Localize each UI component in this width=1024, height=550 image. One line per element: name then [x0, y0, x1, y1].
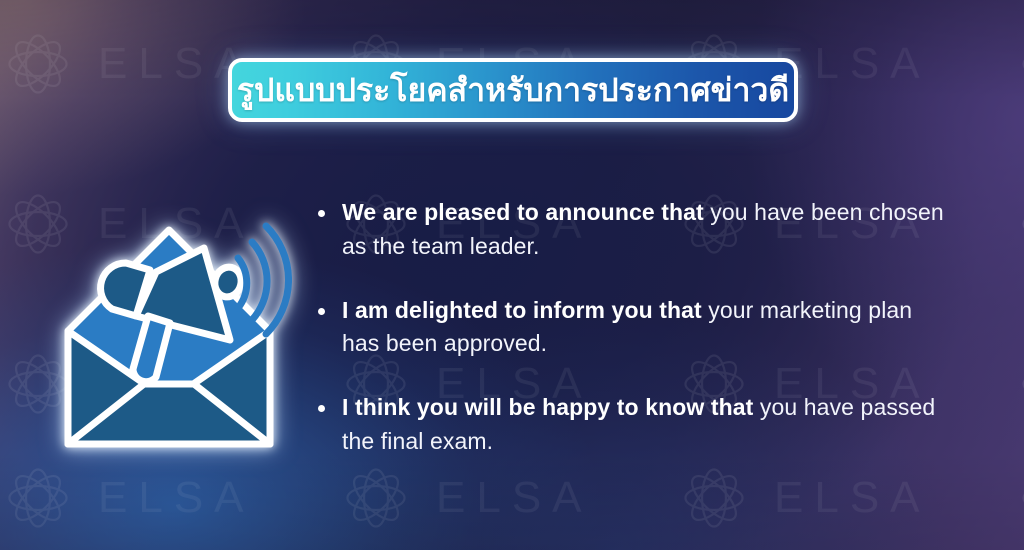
- bullet-lead-phrase: I am delighted to inform you that: [342, 297, 702, 323]
- bullet-dot-icon: [318, 308, 325, 315]
- bullet-text: I am delighted to inform you that your m…: [342, 294, 946, 362]
- soundwave-arc-2: [252, 242, 267, 320]
- bullet-text: We are pleased to announce that you have…: [342, 196, 946, 264]
- bullet-lead-phrase: I think you will be happy to know that: [342, 394, 753, 420]
- bullet-lead-phrase: We are pleased to announce that: [342, 199, 704, 225]
- slide-canvas: ELSA ELSA ELSA ELSA ELSA: [0, 0, 1024, 550]
- title-badge: รูปแบบประโยคสำหรับการประกาศข่าวดี: [228, 58, 798, 122]
- bullet-dot-icon: [318, 210, 325, 217]
- bullet-dot-icon: [318, 405, 325, 412]
- bullet-item-3: I think you will be happy to know that y…: [318, 391, 946, 459]
- bullet-item-2: I am delighted to inform you that your m…: [318, 294, 946, 362]
- bullet-item-1: We are pleased to announce that you have…: [318, 196, 946, 264]
- megaphone-mouthpiece: [212, 264, 244, 299]
- bullet-text: I think you will be happy to know that y…: [342, 391, 946, 459]
- page-title: รูปแบบประโยคสำหรับการประกาศข่าวดี: [237, 74, 789, 106]
- bullet-list: We are pleased to announce that you have…: [318, 196, 946, 459]
- envelope-megaphone-illustration: [52, 212, 292, 462]
